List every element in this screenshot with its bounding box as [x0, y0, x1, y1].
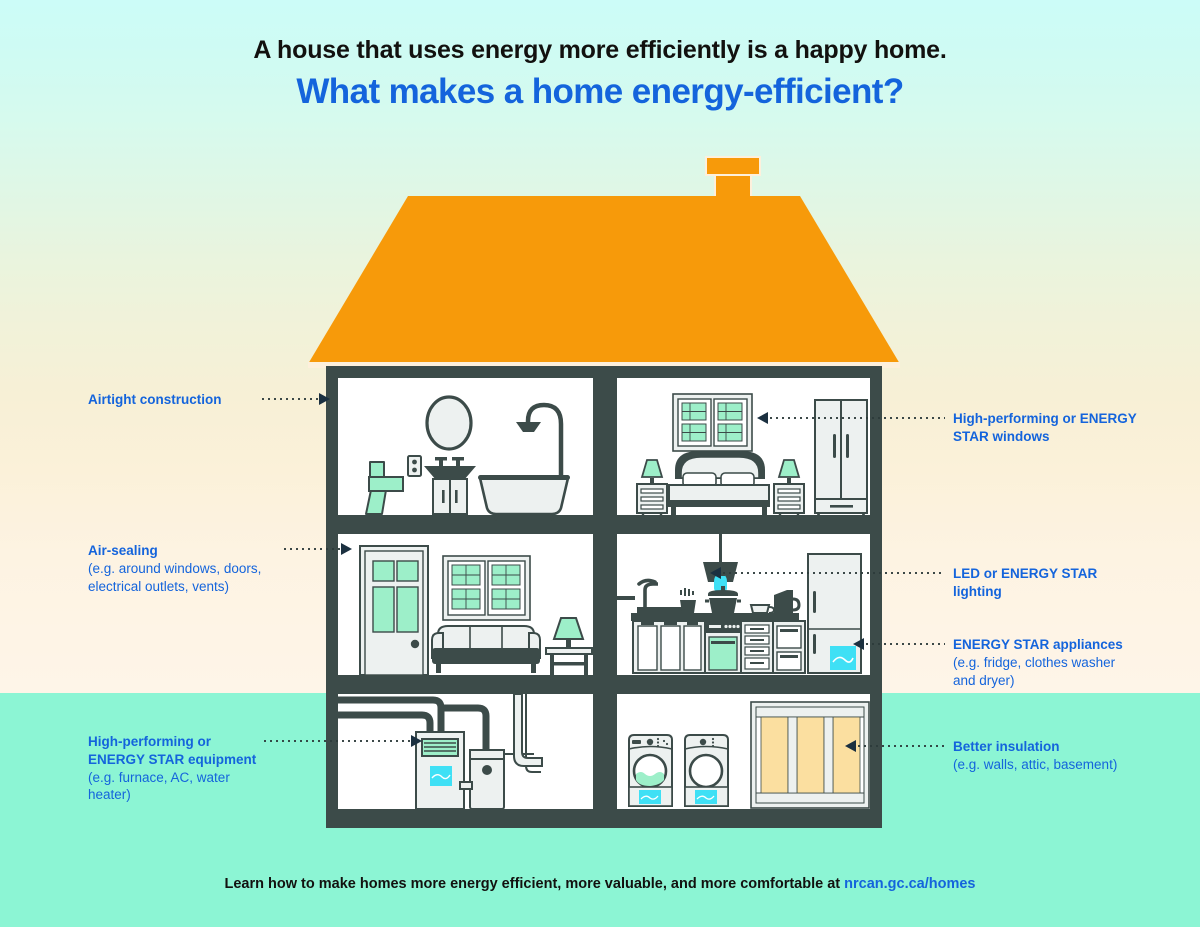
side-table-icon [546, 648, 592, 675]
bed-icon [669, 451, 769, 515]
furnace-icon [416, 732, 464, 809]
room-bedroom [617, 378, 870, 522]
room-living-room [338, 534, 593, 682]
pendant-light-icon [703, 534, 738, 592]
footer-text: Learn how to make homes more energy effi… [224, 876, 844, 892]
leader-better-insulation [845, 741, 945, 751]
leader-dots [262, 740, 411, 742]
callout-energy-star-appliances-detail: (e.g. fridge, clothes washer and dryer) [953, 654, 1163, 690]
leader-arrowhead [757, 412, 768, 424]
callout-energy-star-appliances: ENERGY STAR appliances (e.g. fridge, clo… [953, 636, 1163, 689]
laundry-illustration [617, 694, 870, 816]
leader-arrowhead [845, 740, 856, 752]
nightstand-left-icon [637, 484, 667, 519]
lamp-left-icon [642, 460, 662, 485]
callout-high-performing-equipment-detail: (e.g. furnace, AC, water heater) [88, 769, 308, 805]
page-title: A house that uses energy more efficientl… [0, 36, 1200, 112]
bathtub-icon [478, 475, 570, 520]
leader-dots [856, 745, 945, 747]
room-kitchen [617, 534, 870, 682]
roof [308, 196, 900, 368]
kettle-icon [774, 590, 799, 613]
chimney-cap [705, 156, 761, 176]
table-lamp-icon [554, 618, 583, 649]
leader-arrowhead [853, 638, 864, 650]
sink-vanity-icon [424, 457, 476, 514]
wall-insulation-icon [751, 702, 869, 808]
callout-better-insulation: Better insulation (e.g. walls, attic, ba… [953, 738, 1168, 774]
drawer-stack-icon [741, 621, 773, 673]
living-room-illustration [338, 534, 593, 682]
room-mechanical [338, 694, 593, 816]
kitchen-illustration [617, 534, 870, 682]
leader-led-lighting [710, 568, 945, 578]
lamp-right-icon [779, 460, 799, 485]
cup-icon [751, 605, 774, 613]
callout-led-lighting: LED or ENERGY STAR lighting [953, 565, 1153, 601]
water-heater-icon [460, 750, 504, 809]
electrical-outlet-icon [408, 456, 421, 476]
bathroom-illustration [338, 378, 593, 522]
leader-energy-star-windows [757, 413, 945, 423]
sofa-icon [432, 626, 540, 673]
callout-airtight-construction-heading: Airtight construction [88, 391, 278, 409]
bedroom-illustration [617, 378, 870, 522]
leader-dots [260, 398, 319, 400]
leader-arrowhead [341, 543, 352, 555]
leader-arrowhead [411, 735, 422, 747]
base-cabinets-icon [633, 621, 705, 673]
infographic-canvas: A house that uses energy more efficientl… [0, 0, 1200, 927]
leader-dots [864, 643, 945, 645]
callout-led-lighting-heading: LED or ENERGY STAR lighting [953, 565, 1153, 601]
washer-icon [629, 735, 672, 806]
oven-icon [773, 621, 805, 673]
toilet-icon [366, 462, 403, 514]
callout-better-insulation-heading: Better insulation [953, 738, 1168, 756]
callout-air-sealing: Air-sealing (e.g. around windows, doors,… [88, 542, 288, 595]
leader-energy-star-appliances [853, 639, 945, 649]
leader-airtight-construction [260, 394, 330, 404]
leader-dots [282, 548, 341, 550]
footer-line: Learn how to make homes more energy effi… [0, 876, 1200, 892]
callout-energy-star-windows-heading: High-performing or ENERGY STAR windows [953, 410, 1168, 446]
leader-arrowhead [319, 393, 330, 405]
callout-air-sealing-heading: Air-sealing [88, 542, 288, 560]
bedroom-window-icon [673, 394, 752, 451]
footer-url-link[interactable]: nrcan.gc.ca/homes [844, 876, 975, 892]
mechanical-illustration [338, 694, 593, 816]
leader-arrowhead [710, 567, 721, 579]
dishwasher-icon [705, 621, 741, 673]
leader-dots [768, 417, 945, 419]
pot-icon [705, 586, 741, 613]
callout-air-sealing-detail: (e.g. around windows, doors, electrical … [88, 560, 288, 596]
title-line-2: What makes a home energy-efficient? [0, 71, 1200, 112]
leader-high-performing-equipment [262, 736, 422, 746]
entry-door-icon [360, 546, 428, 675]
callout-better-insulation-detail: (e.g. walls, attic, basement) [953, 756, 1168, 774]
nightstand-right-icon [774, 484, 804, 519]
kitchen-sink-icon [637, 580, 682, 615]
shower-head-icon [516, 405, 561, 477]
leader-dots [721, 572, 945, 574]
callout-energy-star-appliances-heading: ENERGY STAR appliances [953, 636, 1163, 654]
callout-energy-star-windows: High-performing or ENERGY STAR windows [953, 410, 1168, 446]
living-room-window-icon [443, 556, 530, 620]
mirror-icon [427, 397, 471, 449]
room-bathroom [338, 378, 593, 522]
pipe-run [514, 694, 542, 766]
title-line-1: A house that uses energy more efficientl… [0, 36, 1200, 65]
house-structure [326, 366, 882, 828]
leader-air-sealing [282, 544, 352, 554]
callout-airtight-construction: Airtight construction [88, 391, 278, 409]
room-laundry [617, 694, 870, 816]
dryer-icon [685, 735, 728, 806]
